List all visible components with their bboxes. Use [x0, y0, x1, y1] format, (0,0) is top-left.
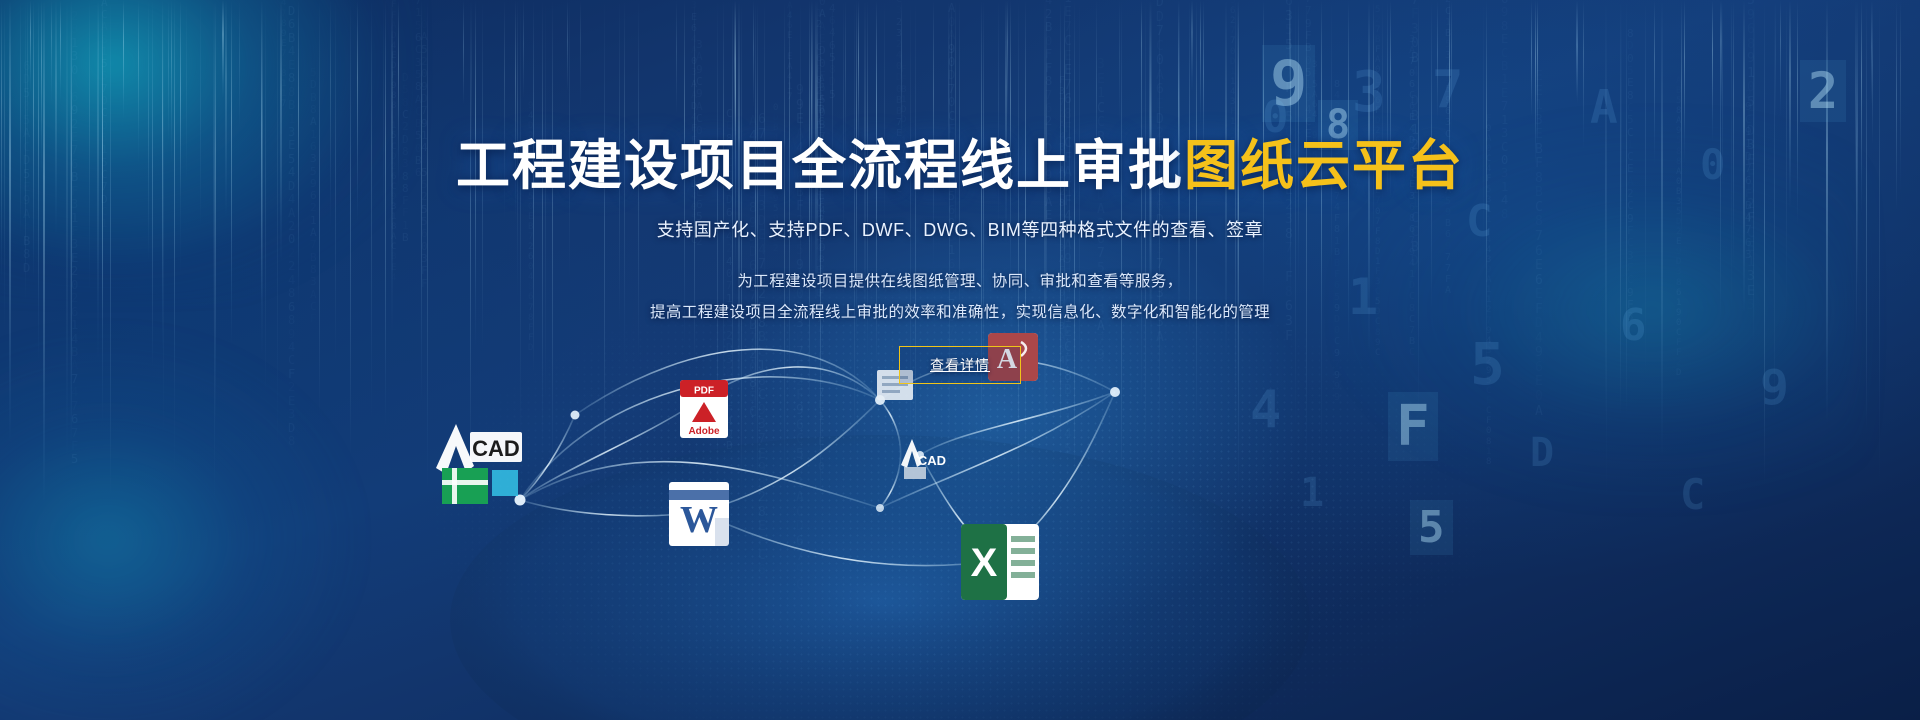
svg-text:Adobe: Adobe [688, 426, 720, 437]
teal-glow-bottom-left [0, 330, 360, 720]
hero-content: 工程建设项目全流程线上审批图纸云平台 支持国产化、支持PDF、DWF、DWG、B… [0, 0, 1920, 384]
cad-small-icon[interactable]: CAD [898, 435, 950, 486]
svg-text:X: X [971, 541, 998, 585]
page-title: 工程建设项目全流程线上审批图纸云平台 [0, 138, 1920, 195]
pdf-icon[interactable]: PDF Adobe [678, 378, 730, 445]
description-line-1: 为工程建设项目提供在线图纸管理、协同、审批和查看等服务， [0, 266, 1920, 297]
page-title-highlight: 图纸云平台 [1184, 136, 1464, 196]
svg-text:CAD: CAD [918, 453, 946, 468]
subtitle: 支持国产化、支持PDF、DWF、DWG、BIM等四种格式文件的查看、签章 [0, 216, 1920, 242]
hero-banner: 60A46E5EA4173E1CCB888DA3675253A798D05E8C… [0, 0, 1920, 720]
description-line-2: 提高工程建设项目全流程线上审批的效率和准确性，实现信息化、数字化和智能化的管理 [0, 297, 1920, 328]
page-title-main: 工程建设项目全流程线上审批 [456, 136, 1184, 196]
svg-text:CAD: CAD [472, 436, 520, 461]
svg-text:PDF: PDF [694, 386, 714, 397]
autocad-icon[interactable]: CAD [430, 418, 526, 513]
cta-wrapper: 查看详情 [0, 346, 1920, 384]
word-icon[interactable]: W [665, 478, 733, 555]
excel-icon[interactable]: X [955, 518, 1045, 611]
description: 为工程建设项目提供在线图纸管理、协同、审批和查看等服务， 提高工程建设项目全流程… [0, 266, 1920, 328]
svg-text:W: W [680, 499, 718, 541]
view-details-button[interactable]: 查看详情 [899, 346, 1021, 384]
